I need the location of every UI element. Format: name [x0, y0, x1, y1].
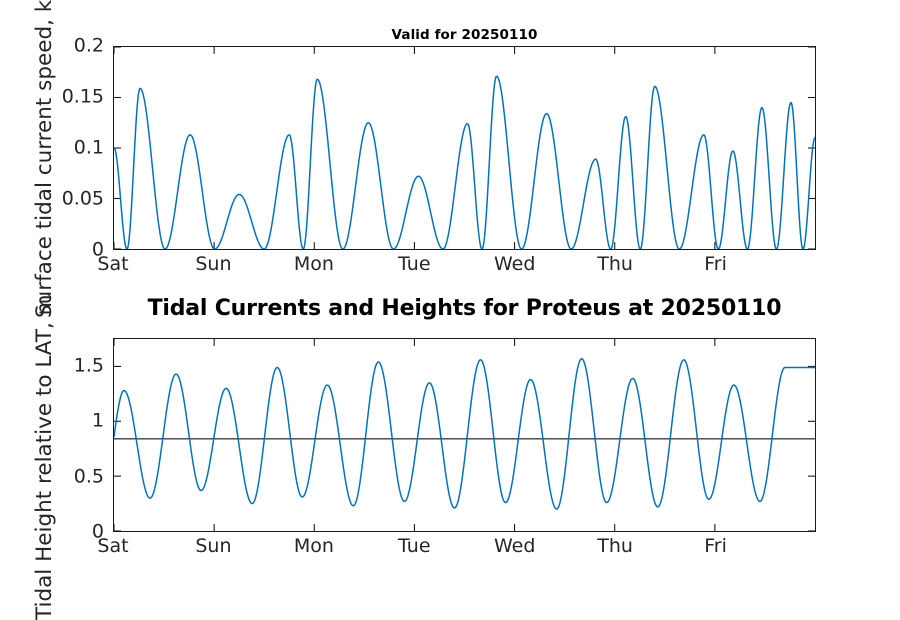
- x-tick-label: Thu: [597, 255, 633, 274]
- y-tick-label: 0.05: [62, 190, 104, 209]
- x-tick-label: Mon: [294, 255, 334, 274]
- tidal-height-plot: [114, 339, 815, 531]
- current-speed-xtick-labels: SatSunMonTueWedThuFri: [113, 255, 816, 281]
- x-tick-label: Wed: [494, 255, 535, 274]
- current-speed-plot: [114, 47, 815, 249]
- x-tick-label: Sun: [195, 255, 231, 274]
- x-tick-label: Sat: [97, 537, 128, 556]
- tidal-height-ylabel: Tidal Height relative to LAT, m: [34, 294, 56, 620]
- x-tick-label: Sun: [195, 537, 231, 556]
- x-tick-label: Sat: [97, 255, 128, 274]
- x-tick-label: Tue: [398, 255, 430, 274]
- figure-title: Tidal Currents and Heights for Proteus a…: [113, 296, 816, 321]
- current-speed-axes: [113, 46, 816, 250]
- y-tick-label: 0.2: [74, 37, 104, 56]
- y-tick-label: 1: [92, 412, 104, 431]
- subtitle-valid-for: Valid for 20250110: [113, 27, 816, 43]
- x-tick-label: Fri: [704, 537, 727, 556]
- x-tick-label: Fri: [704, 255, 727, 274]
- tidal-figure: Valid for 20250110 00.050.10.150.2 SatSu…: [0, 0, 900, 600]
- y-tick-label: 0.1: [74, 139, 104, 158]
- x-tick-label: Wed: [494, 537, 535, 556]
- y-tick-label: 0.5: [74, 467, 104, 486]
- x-tick-label: Tue: [398, 537, 430, 556]
- x-tick-label: Mon: [294, 537, 334, 556]
- y-tick-label: 1.5: [74, 356, 104, 375]
- current-speed-ylabel: Surface tidal current speed, kn: [34, 0, 56, 318]
- x-tick-label: Thu: [597, 537, 633, 556]
- tidal-height-axes: [113, 338, 816, 532]
- y-tick-label: 0.15: [62, 88, 104, 107]
- tidal-height-xtick-labels: SatSunMonTueWedThuFri: [113, 537, 816, 563]
